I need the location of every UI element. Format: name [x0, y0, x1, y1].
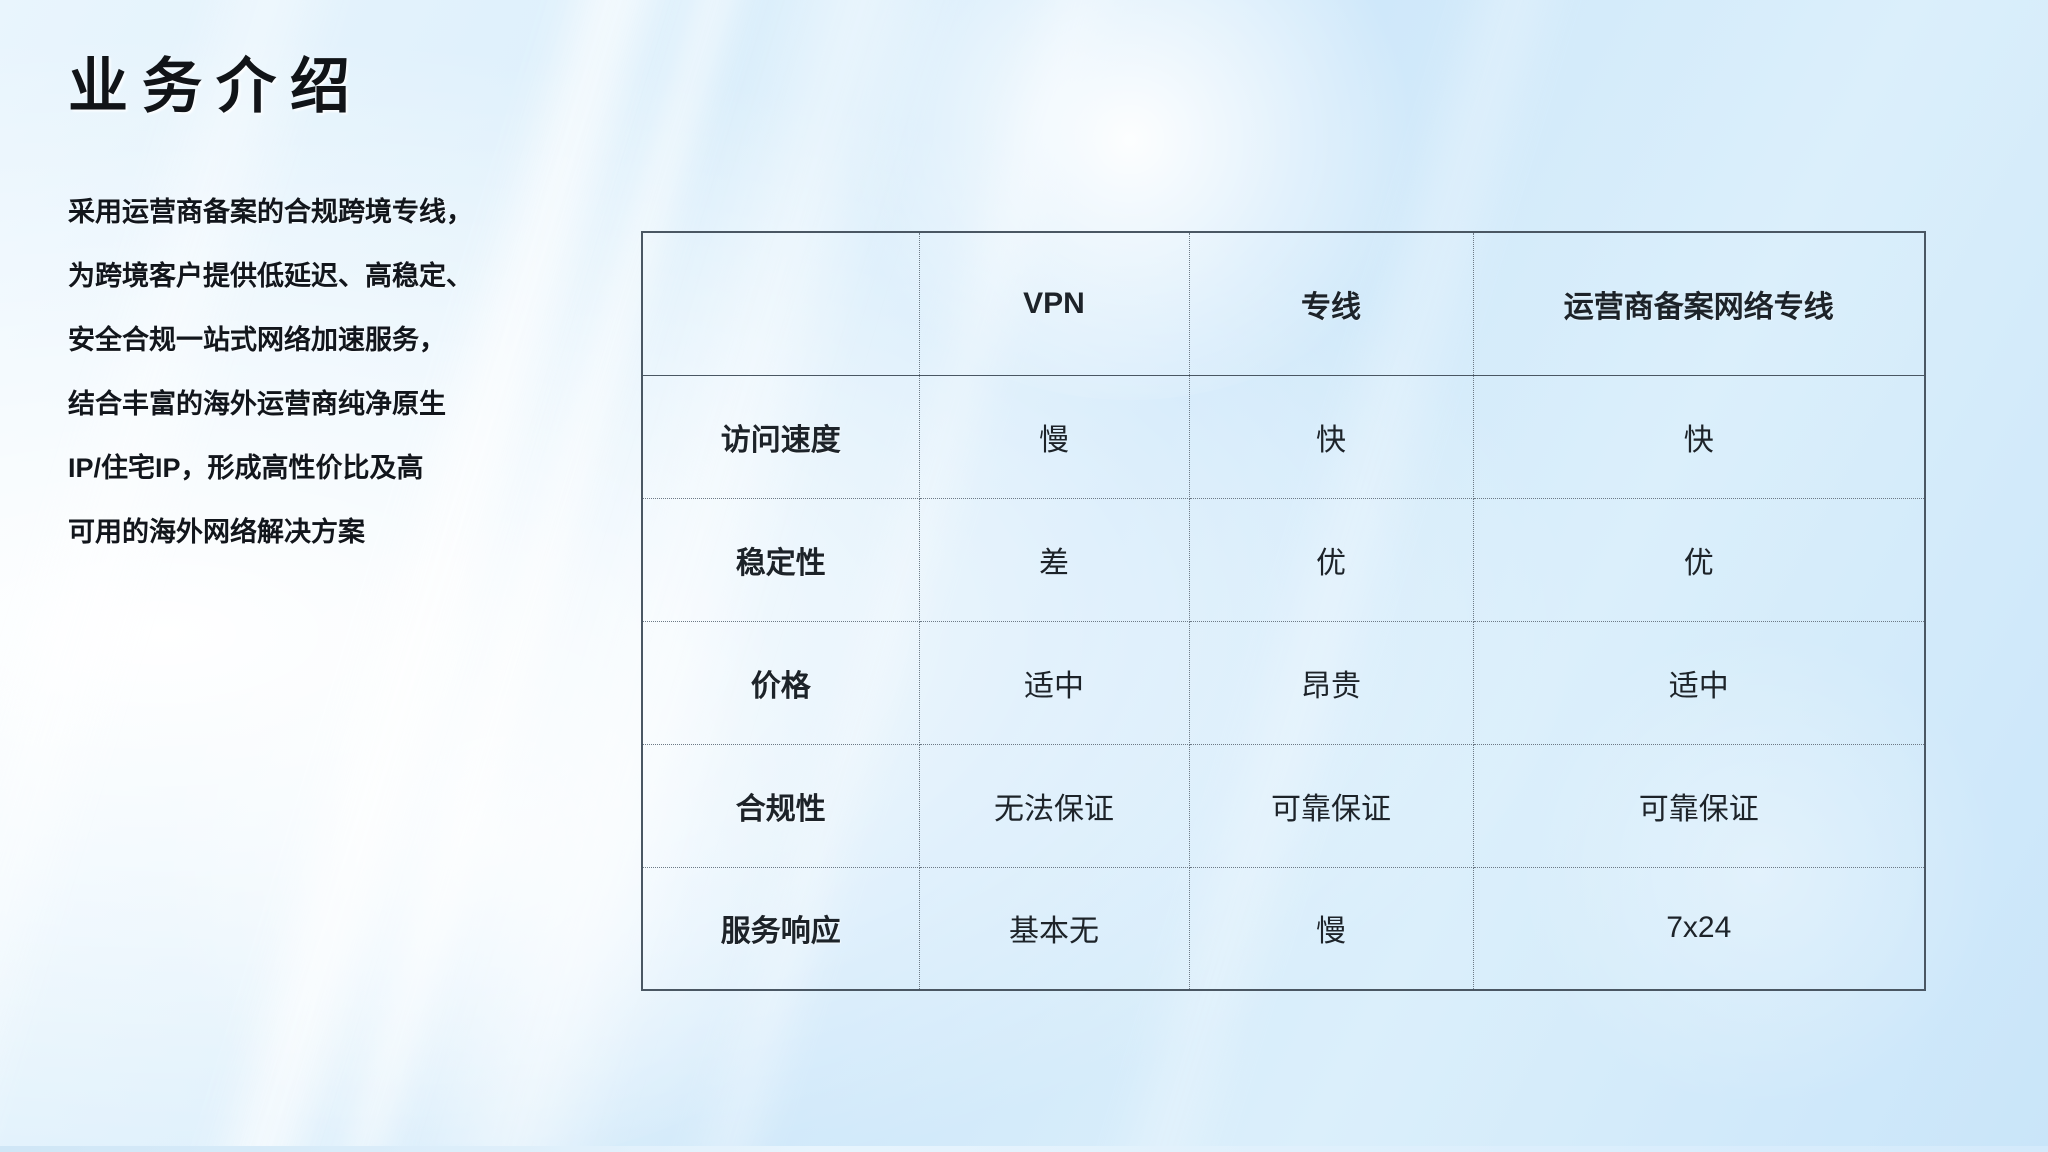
table-cell: 适中: [1473, 621, 1925, 744]
row-label: 合规性: [642, 744, 919, 867]
table-header-dedicated-line: 专线: [1189, 232, 1473, 375]
intro-line: 安全合规一站式网络加速服务，: [68, 308, 628, 372]
intro-paragraph: 采用运营商备案的合规跨境专线， 为跨境客户提供低延迟、高稳定、 安全合规一站式网…: [68, 180, 628, 564]
table-row: 服务响应 基本无 慢 7x24: [642, 867, 1925, 990]
table-cell: 慢: [1189, 867, 1473, 990]
table-cell: 慢: [919, 375, 1189, 498]
row-label: 服务响应: [642, 867, 919, 990]
intro-line: 采用运营商备案的合规跨境专线，: [68, 180, 628, 244]
table-cell: 可靠保证: [1189, 744, 1473, 867]
table-cell: 快: [1189, 375, 1473, 498]
table-header-vpn: VPN: [919, 232, 1189, 375]
table-row: 价格 适中 昂贵 适中: [642, 621, 1925, 744]
table-row: 稳定性 差 优 优: [642, 498, 1925, 621]
table-cell: 基本无: [919, 867, 1189, 990]
table-header-row: VPN 专线 运营商备案网络专线: [642, 232, 1925, 375]
table-row: 访问速度 慢 快 快: [642, 375, 1925, 498]
row-label: 访问速度: [642, 375, 919, 498]
footer-divider: [0, 1146, 2048, 1152]
comparison-table: VPN 专线 运营商备案网络专线 访问速度 慢 快 快 稳定性 差 优 优 价格…: [641, 231, 1926, 991]
table-cell: 无法保证: [919, 744, 1189, 867]
intro-line: 为跨境客户提供低延迟、高稳定、: [68, 244, 628, 308]
row-label: 稳定性: [642, 498, 919, 621]
table-cell: 昂贵: [1189, 621, 1473, 744]
page-title: 业务介绍: [68, 52, 364, 121]
table-cell: 快: [1473, 375, 1925, 498]
table-cell: 适中: [919, 621, 1189, 744]
table-header-blank: [642, 232, 919, 375]
table-cell: 差: [919, 498, 1189, 621]
intro-line: 可用的海外网络解决方案: [68, 500, 628, 564]
intro-line: 结合丰富的海外运营商纯净原生: [68, 372, 628, 436]
table-header-carrier-line: 运营商备案网络专线: [1473, 232, 1925, 375]
table-cell: 优: [1473, 498, 1925, 621]
table-cell: 优: [1189, 498, 1473, 621]
row-label: 价格: [642, 621, 919, 744]
intro-line: IP/住宅IP，形成高性价比及高: [68, 436, 628, 500]
table-row: 合规性 无法保证 可靠保证 可靠保证: [642, 744, 1925, 867]
table-cell: 7x24: [1473, 867, 1925, 990]
table-cell: 可靠保证: [1473, 744, 1925, 867]
